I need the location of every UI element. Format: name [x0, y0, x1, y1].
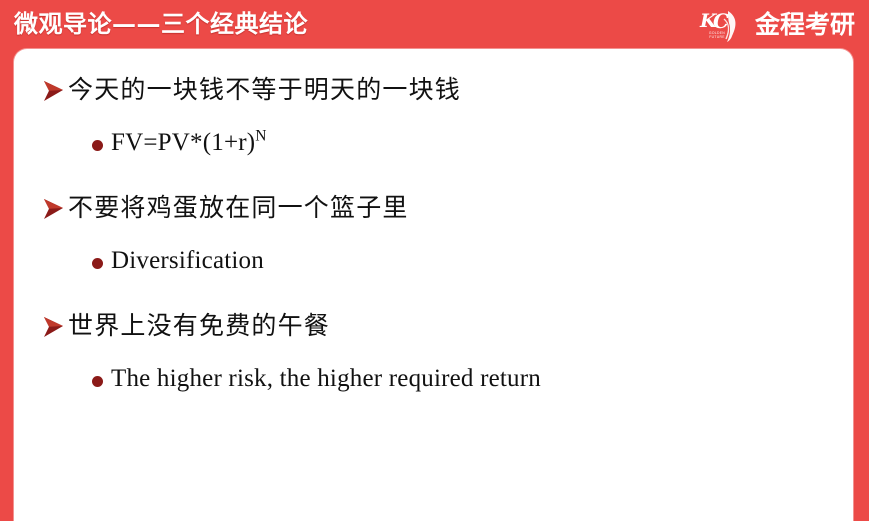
arrow-bullet-icon [42, 192, 68, 226]
bullet-group: 世界上没有免费的午餐 The higher risk, the higher r… [14, 306, 853, 398]
brand-monogram-subtext-line2: FUTURE [700, 35, 734, 39]
brand-name-label: 金程考研 [755, 10, 855, 40]
sub-list-item-label: FV=PV*(1+r)N [111, 126, 267, 160]
brand-logo: K C GOLDEN FUTURE 金程考研 [698, 4, 855, 46]
round-bullet-icon [92, 127, 111, 157]
sub-list-item-text: The higher risk, the higher required ret… [111, 365, 541, 392]
sub-list-item-text: Diversification [111, 247, 264, 274]
sub-list-item: Diversification [14, 244, 853, 280]
sub-list-item: FV=PV*(1+r)N [14, 126, 853, 162]
arrow-bullet-icon [42, 310, 68, 344]
list-item: 今天的一块钱不等于明天的一块钱 [14, 70, 853, 112]
formula-base: FV=PV*(1+r) [111, 129, 255, 156]
page-title: 微观导论——三个经典结论 [14, 3, 308, 45]
sub-list-item-label: Diversification [111, 244, 264, 278]
list-item-label: 世界上没有免费的午餐 [68, 306, 330, 346]
sub-list-item: The higher risk, the higher required ret… [14, 362, 853, 398]
kc-monogram-icon: K C GOLDEN FUTURE [698, 5, 750, 45]
bullet-group: 今天的一块钱不等于明天的一块钱 FV=PV*(1+r)N [14, 70, 853, 162]
round-bullet-icon [92, 363, 111, 393]
bullet-group: 不要将鸡蛋放在同一个篮子里 Diversification [14, 188, 853, 280]
list-item: 世界上没有免费的午餐 [14, 306, 853, 348]
round-bullet-icon [92, 245, 111, 275]
brand-monogram-subtext: GOLDEN FUTURE [700, 31, 734, 40]
slide-content-panel: 今天的一块钱不等于明天的一块钱 FV=PV*(1+r)N 不要将鸡 [14, 49, 853, 521]
sub-list-item-label: The higher risk, the higher required ret… [111, 362, 541, 396]
formula-exponent: N [255, 128, 266, 145]
bullet-list: 今天的一块钱不等于明天的一块钱 FV=PV*(1+r)N 不要将鸡 [14, 49, 853, 424]
list-item-label: 今天的一块钱不等于明天的一块钱 [68, 70, 461, 110]
arrow-bullet-icon [42, 74, 68, 108]
slide-header-band: 微观导论——三个经典结论 K C GOLDEN FUTURE 金程考研 [0, 0, 869, 49]
presentation-slide: 微观导论——三个经典结论 K C GOLDEN FUTURE 金程考研 [0, 0, 869, 521]
list-item-label: 不要将鸡蛋放在同一个篮子里 [68, 188, 409, 228]
list-item: 不要将鸡蛋放在同一个篮子里 [14, 188, 853, 230]
